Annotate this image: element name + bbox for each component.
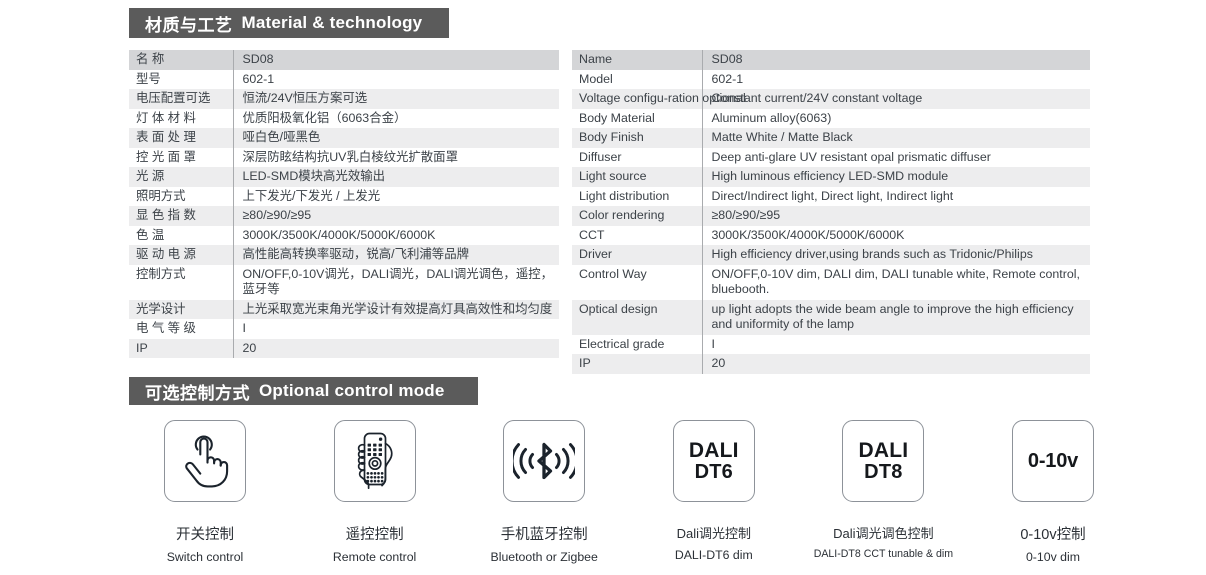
icon-text-line-2: DT8 bbox=[858, 462, 908, 482]
spec-row: 名 称SD08 bbox=[129, 50, 559, 70]
spec-row-label: 照明方式 bbox=[129, 187, 233, 207]
spec-row: 电 气 等 级I bbox=[129, 319, 559, 339]
spec-row-label: 控制方式 bbox=[129, 265, 233, 300]
control-mode-label-en: Bluetooth or Zigbee bbox=[491, 550, 598, 564]
icon-text-line-2: DT6 bbox=[689, 462, 739, 482]
spec-row-label: 色 温 bbox=[129, 226, 233, 246]
control-mode-label-cn: Dali调光控制 bbox=[677, 523, 751, 542]
spec-row-label: Body Material bbox=[572, 109, 702, 129]
bluetooth-wireless-icon bbox=[513, 438, 575, 484]
spec-row: IP20 bbox=[129, 339, 559, 359]
spec-row-label: Driver bbox=[572, 245, 702, 265]
spec-row-value: 优质阳极氧化铝（6063合金） bbox=[233, 109, 559, 129]
spec-row-value: 20 bbox=[233, 339, 559, 359]
spec-row-value: 上光采取宽光束角光学设计有效提高灯具高效性和均匀度 bbox=[233, 300, 559, 320]
control-mode-icon-box[interactable] bbox=[164, 420, 246, 502]
spec-row-label: 显 色 指 数 bbox=[129, 206, 233, 226]
spec-row-label: 电 气 等 级 bbox=[129, 319, 233, 339]
spec-row: DriverHigh efficiency driver,using brand… bbox=[572, 245, 1090, 265]
spec-row-value: Deep anti-glare UV resistant opal prisma… bbox=[702, 148, 1090, 168]
spec-row: 型号602-1 bbox=[129, 70, 559, 90]
spec-row: 控 光 面 罩深层防眩结构抗UV乳白棱纹光扩散面罩 bbox=[129, 148, 559, 168]
spec-row-label: 电压配置可选 bbox=[129, 89, 233, 109]
spec-row-value: ≥80/≥90/≥95 bbox=[702, 206, 1090, 226]
control-mode-label-en: DALI-DT6 dim bbox=[675, 548, 753, 562]
section-header-material: 材质与工艺 Material & technology bbox=[129, 8, 449, 38]
spec-row-value: I bbox=[702, 335, 1090, 355]
spec-row-value: 602-1 bbox=[702, 70, 1090, 90]
section-header-control-mode-en: Optional control mode bbox=[259, 381, 445, 401]
section-header-control-mode: 可选控制方式 Optional control mode bbox=[129, 377, 478, 405]
spec-row-value: High efficiency driver,using brands such… bbox=[702, 245, 1090, 265]
product-spec-sheet: 材质与工艺 Material & technology 名 称SD08型号602… bbox=[0, 0, 1206, 575]
control-mode-card-list: 开关控制Switch control 遥控控制Remote control bbox=[129, 420, 1129, 570]
spec-row-label: Diffuser bbox=[572, 148, 702, 168]
spec-row-label: Optical design bbox=[572, 300, 702, 335]
spec-row-label: 名 称 bbox=[129, 50, 233, 70]
control-mode-card[interactable]: DALIDT8Dali调光调色控制DALI-DT8 CCT tunable & … bbox=[807, 420, 959, 570]
control-mode-label-en: Remote control bbox=[333, 550, 416, 564]
spec-row-value: 高性能高转换率驱动，锐高/飞利浦等品牌 bbox=[233, 245, 559, 265]
spec-row-value: Constant current/24V constant voltage bbox=[702, 89, 1090, 109]
spec-row-label: Electrical grade bbox=[572, 335, 702, 355]
icon-text-line-1: DALI bbox=[858, 439, 908, 462]
spec-row: 灯 体 材 料优质阳极氧化铝（6063合金） bbox=[129, 109, 559, 129]
spec-row-label: CCT bbox=[572, 226, 702, 246]
spec-row-value: SD08 bbox=[233, 50, 559, 70]
control-mode-card[interactable]: DALIDT6Dali调光控制DALI-DT6 dim bbox=[638, 420, 790, 570]
spec-row-value: Aluminum alloy(6063) bbox=[702, 109, 1090, 129]
control-mode-icon-box[interactable]: 0-10v bbox=[1012, 420, 1094, 502]
spec-row: CCT3000K/3500K/4000K/5000K/6000K bbox=[572, 226, 1090, 246]
spec-row-label: Model bbox=[572, 70, 702, 90]
spec-row-value: 3000K/3500K/4000K/5000K/6000K bbox=[233, 226, 559, 246]
spec-row: 控制方式ON/OFF,0-10V调光，DALI调光，DALI调光调色，遥控，蓝牙… bbox=[129, 265, 559, 300]
hand-tap-icon bbox=[179, 433, 231, 489]
spec-row-label: 灯 体 材 料 bbox=[129, 109, 233, 129]
control-mode-card[interactable]: 手机蓝牙控制Bluetooth or Zigbee bbox=[468, 420, 620, 570]
dali-dt6-text-icon: DALIDT6 bbox=[689, 440, 739, 482]
spec-row-label: Body Finish bbox=[572, 128, 702, 148]
control-mode-label-en: Switch control bbox=[167, 550, 244, 564]
spec-row: 驱 动 电 源高性能高转换率驱动，锐高/飞利浦等品牌 bbox=[129, 245, 559, 265]
spec-row: 表 面 处 理哑白色/哑黑色 bbox=[129, 128, 559, 148]
spec-row-label: 控 光 面 罩 bbox=[129, 148, 233, 168]
spec-row: 光学设计上光采取宽光束角光学设计有效提高灯具高效性和均匀度 bbox=[129, 300, 559, 320]
spec-row-value: 上下发光/下发光 / 上发光 bbox=[233, 187, 559, 207]
spec-row: 色 温3000K/3500K/4000K/5000K/6000K bbox=[129, 226, 559, 246]
spec-table-chinese-body: 名 称SD08型号602-1电压配置可选恒流/24V恒压方案可选灯 体 材 料优… bbox=[129, 50, 559, 358]
spec-row-label: 型号 bbox=[129, 70, 233, 90]
spec-table-english: NameSD08Model602-1Voltage configu-ration… bbox=[572, 50, 1090, 374]
control-mode-label-cn: Dali调光调色控制 bbox=[833, 523, 933, 542]
spec-row-value: 602-1 bbox=[233, 70, 559, 90]
spec-row-label: 光学设计 bbox=[129, 300, 233, 320]
spec-table-chinese: 名 称SD08型号602-1电压配置可选恒流/24V恒压方案可选灯 体 材 料优… bbox=[129, 50, 559, 358]
spec-row-label: IP bbox=[129, 339, 233, 359]
icon-text-line-1: DALI bbox=[689, 439, 739, 462]
spec-row-label: Voltage configu-ration optional bbox=[572, 89, 702, 109]
control-mode-icon-box[interactable] bbox=[503, 420, 585, 502]
control-mode-card[interactable]: 0-10v0-10v控制0-10v dim bbox=[977, 420, 1129, 570]
spec-row: Optical designup light adopts the wide b… bbox=[572, 300, 1090, 335]
spec-row-value: I bbox=[233, 319, 559, 339]
spec-row-label: 表 面 处 理 bbox=[129, 128, 233, 148]
spec-row-value: 深层防眩结构抗UV乳白棱纹光扩散面罩 bbox=[233, 148, 559, 168]
spec-row-label: Light distribution bbox=[572, 187, 702, 207]
control-mode-card[interactable]: 开关控制Switch control bbox=[129, 420, 281, 570]
section-header-material-cn: 材质与工艺 bbox=[145, 11, 233, 36]
control-mode-icon-box[interactable]: DALIDT8 bbox=[842, 420, 924, 502]
spec-row-label: Name bbox=[572, 50, 702, 70]
spec-row-value: 3000K/3500K/4000K/5000K/6000K bbox=[702, 226, 1090, 246]
dali-dt8-text-icon: DALIDT8 bbox=[858, 440, 908, 482]
spec-row-label: 驱 动 电 源 bbox=[129, 245, 233, 265]
spec-row-label: 光 源 bbox=[129, 167, 233, 187]
control-mode-card[interactable]: 遥控控制Remote control bbox=[299, 420, 451, 570]
spec-row: NameSD08 bbox=[572, 50, 1090, 70]
spec-row-value: Direct/Indirect light, Direct light, Ind… bbox=[702, 187, 1090, 207]
spec-row-label: Light source bbox=[572, 167, 702, 187]
spec-row-label: Control Way bbox=[572, 265, 702, 300]
spec-row-value: SD08 bbox=[702, 50, 1090, 70]
spec-row: Body FinishMatte White / Matte Black bbox=[572, 128, 1090, 148]
spec-row-value: 恒流/24V恒压方案可选 bbox=[233, 89, 559, 109]
spec-row: 光 源LED-SMD模块高光效输出 bbox=[129, 167, 559, 187]
spec-row: Voltage configu-ration optionalConstant … bbox=[572, 89, 1090, 109]
spec-row-value: 20 bbox=[702, 354, 1090, 374]
spec-row: Body MaterialAluminum alloy(6063) bbox=[572, 109, 1090, 129]
spec-row-value: 哑白色/哑黑色 bbox=[233, 128, 559, 148]
control-mode-icon-box[interactable] bbox=[334, 420, 416, 502]
control-mode-label-cn: 手机蓝牙控制 bbox=[501, 523, 588, 544]
remote-control-icon bbox=[346, 431, 404, 491]
section-header-material-en: Material & technology bbox=[242, 13, 423, 33]
spec-row: Light distributionDirect/Indirect light,… bbox=[572, 187, 1090, 207]
spec-row-label: IP bbox=[572, 354, 702, 374]
spec-row-value: LED-SMD模块高光效输出 bbox=[233, 167, 559, 187]
spec-row: Electrical gradeI bbox=[572, 335, 1090, 355]
control-mode-icon-box[interactable]: DALIDT6 bbox=[673, 420, 755, 502]
spec-row: Model602-1 bbox=[572, 70, 1090, 90]
control-mode-label-en: DALI-DT8 CCT tunable & dim bbox=[814, 548, 953, 560]
spec-row-label: Color rendering bbox=[572, 206, 702, 226]
spec-row-value: ON/OFF,0-10V dim, DALI dim, DALI tunable… bbox=[702, 265, 1090, 300]
spec-row: 照明方式上下发光/下发光 / 上发光 bbox=[129, 187, 559, 207]
spec-row: 电压配置可选恒流/24V恒压方案可选 bbox=[129, 89, 559, 109]
spec-row: Color rendering≥80/≥90/≥95 bbox=[572, 206, 1090, 226]
spec-row-value: up light adopts the wide beam angle to i… bbox=[702, 300, 1090, 335]
section-header-control-mode-cn: 可选控制方式 bbox=[145, 379, 250, 404]
spec-table-english-body: NameSD08Model602-1Voltage configu-ration… bbox=[572, 50, 1090, 374]
spec-row-value: High luminous efficiency LED-SMD module bbox=[702, 167, 1090, 187]
spec-row: Light sourceHigh luminous efficiency LED… bbox=[572, 167, 1090, 187]
control-mode-label-cn: 0-10v控制 bbox=[1020, 523, 1085, 544]
spec-row-value: ≥80/≥90/≥95 bbox=[233, 206, 559, 226]
spec-row-value: ON/OFF,0-10V调光，DALI调光，DALI调光调色，遥控，蓝牙等 bbox=[233, 265, 559, 300]
spec-row: DiffuserDeep anti-glare UV resistant opa… bbox=[572, 148, 1090, 168]
zero-to-ten-volt-text-icon: 0-10v bbox=[1028, 450, 1078, 473]
control-mode-label-en: 0-10v dim bbox=[1026, 550, 1080, 564]
spec-row: 显 色 指 数≥80/≥90/≥95 bbox=[129, 206, 559, 226]
control-mode-label-cn: 遥控控制 bbox=[346, 523, 404, 544]
spec-row: Control WayON/OFF,0-10V dim, DALI dim, D… bbox=[572, 265, 1090, 300]
control-mode-label-cn: 开关控制 bbox=[176, 523, 234, 544]
spec-row-value: Matte White / Matte Black bbox=[702, 128, 1090, 148]
spec-row: IP20 bbox=[572, 354, 1090, 374]
